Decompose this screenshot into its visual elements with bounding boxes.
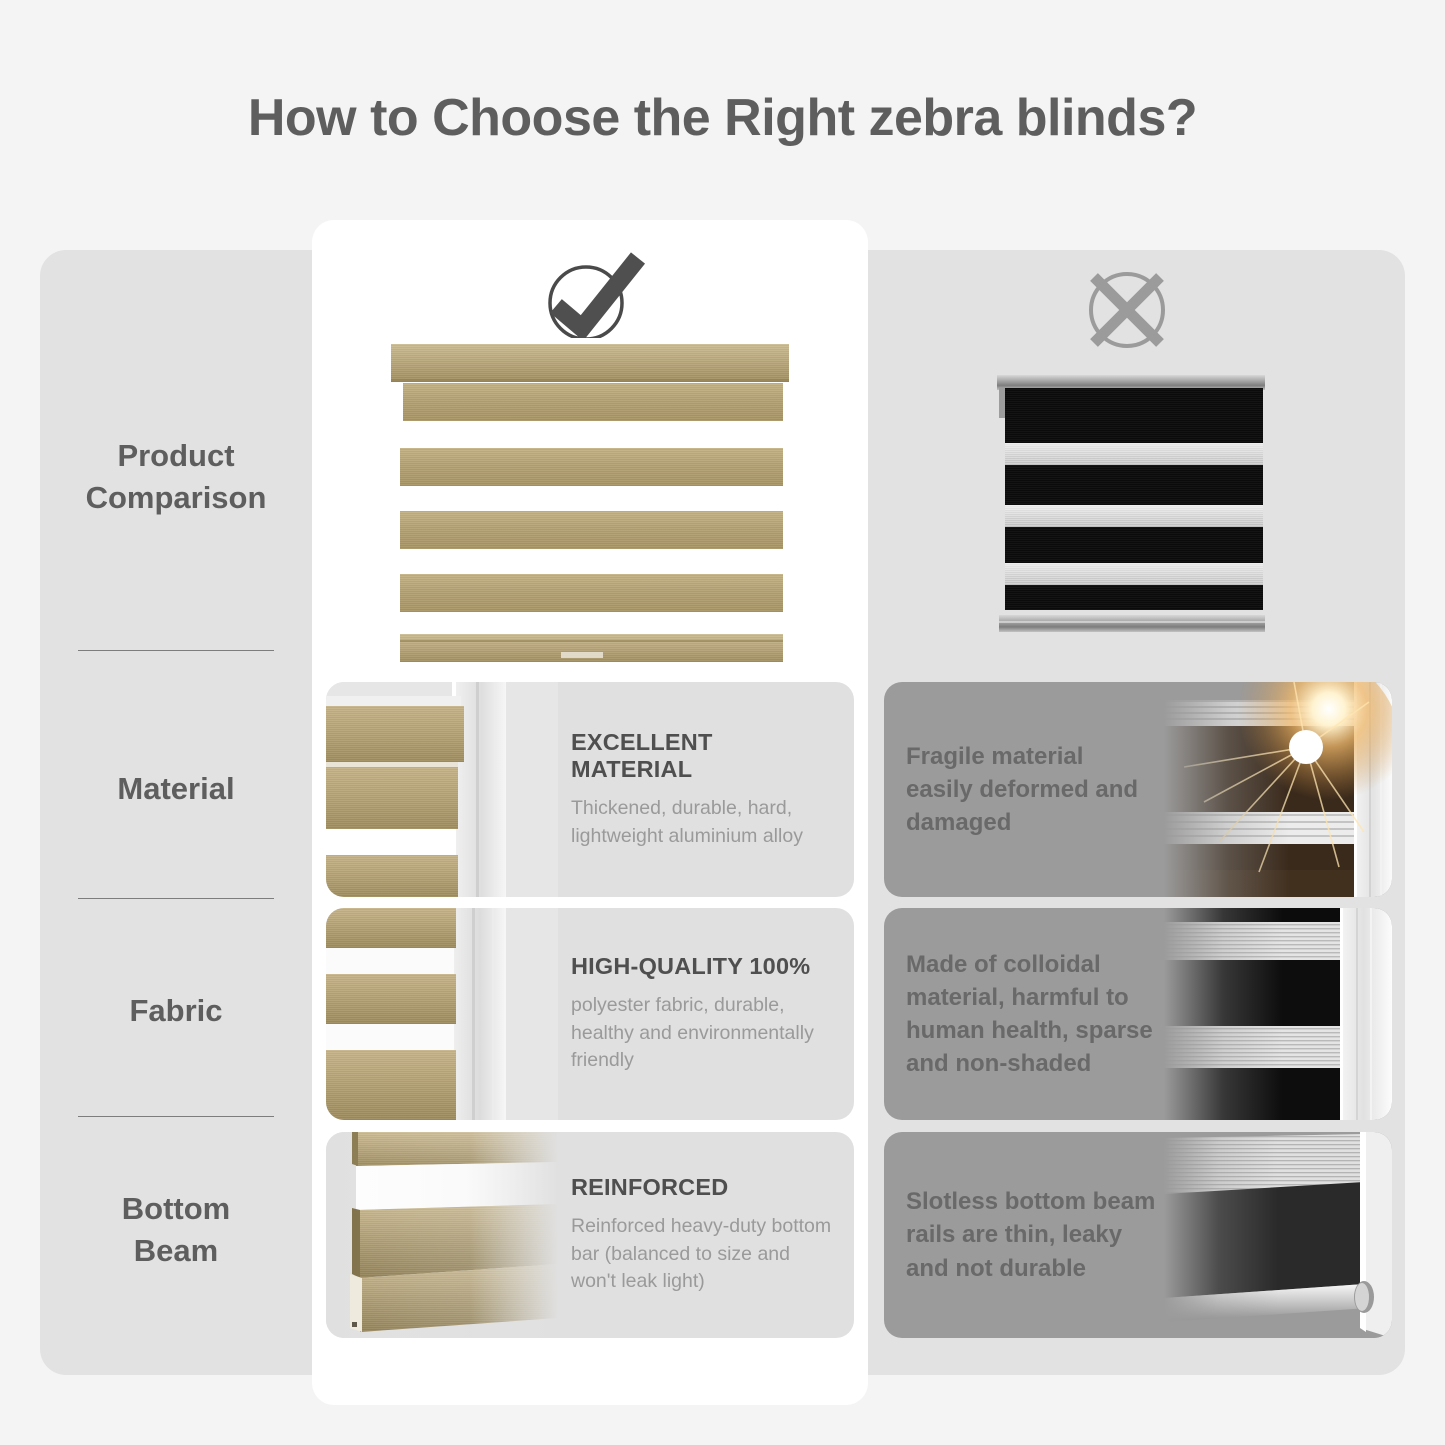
feature-heading: REINFORCED	[571, 1174, 840, 1201]
thin-bottom-rail-photo	[1164, 1132, 1392, 1338]
bad-feature-card-bottom-beam: Slotless bottom beam rails are thin, lea…	[884, 1132, 1392, 1338]
row-label-column: Product Comparison Material Fabric Botto…	[40, 250, 312, 1375]
feature-body: Thickened, durable, hard, lightweight al…	[571, 795, 840, 850]
row-label-line1: Fabric	[129, 993, 222, 1028]
sun-glare-window-photo	[1164, 682, 1392, 897]
feature-text: Slotless bottom beam rails are thin, lea…	[906, 1185, 1156, 1284]
row-label-line1: Product	[117, 438, 234, 473]
bad-feature-text-bottom-beam: Slotless bottom beam rails are thin, lea…	[906, 1132, 1156, 1338]
good-feature-text-fabric: HIGH-QUALITY 100% polyester fabric, dura…	[571, 908, 840, 1120]
row-label-line1: Bottom	[122, 1191, 230, 1226]
good-feature-text-bottom-beam: REINFORCED Reinforced heavy-duty bottom …	[571, 1132, 840, 1338]
black-zebra-blind-image	[975, 365, 1275, 647]
crossed-circle-icon	[1072, 262, 1182, 358]
row-label-line2: Comparison	[86, 480, 267, 515]
feature-text: Made of colloidal material, harmful to h…	[906, 948, 1156, 1080]
check-circle-icon	[534, 248, 654, 344]
bad-feature-card-fabric: Made of colloidal material, harmful to h…	[884, 908, 1392, 1120]
feature-heading: EXCELLENT MATERIAL	[571, 729, 840, 783]
good-feature-card-fabric: HIGH-QUALITY 100% polyester fabric, dura…	[326, 908, 854, 1120]
feature-body: polyester fabric, durable, healthy and e…	[571, 992, 840, 1075]
tan-bottom-bar-photo	[326, 1132, 558, 1338]
row-label-product-comparison: Product Comparison	[40, 435, 312, 519]
row-label-material: Material	[40, 768, 312, 810]
row-divider-1	[78, 650, 274, 651]
row-divider-3	[78, 1116, 274, 1117]
feature-heading: HIGH-QUALITY 100%	[571, 953, 840, 980]
good-feature-text-material: EXCELLENT MATERIAL Thickened, durable, h…	[571, 682, 840, 897]
tan-blind-window-photo	[326, 682, 558, 897]
row-label-fabric: Fabric	[40, 990, 312, 1032]
good-feature-card-material: EXCELLENT MATERIAL Thickened, durable, h…	[326, 682, 854, 897]
feature-text: Fragile material easily deformed and dam…	[906, 740, 1156, 839]
row-label-bottom-beam: Bottom Beam	[40, 1188, 312, 1272]
row-label-line1: Material	[117, 771, 234, 806]
infographic-page: How to Choose the Right zebra blinds? Pr…	[0, 0, 1445, 1445]
page-title: How to Choose the Right zebra blinds?	[0, 88, 1445, 148]
bad-feature-card-material: Fragile material easily deformed and dam…	[884, 682, 1392, 897]
tan-blind-fabric-photo	[326, 908, 558, 1120]
tan-zebra-blind-image	[385, 338, 795, 668]
row-label-line2: Beam	[134, 1233, 218, 1268]
feature-body: Reinforced heavy-duty bottom bar (balanc…	[571, 1213, 840, 1296]
bad-feature-text-material: Fragile material easily deformed and dam…	[906, 682, 1156, 897]
bad-feature-text-fabric: Made of colloidal material, harmful to h…	[906, 908, 1156, 1120]
good-feature-card-bottom-beam: REINFORCED Reinforced heavy-duty bottom …	[326, 1132, 854, 1338]
row-divider-2	[78, 898, 274, 899]
black-blind-window-photo	[1164, 908, 1392, 1120]
